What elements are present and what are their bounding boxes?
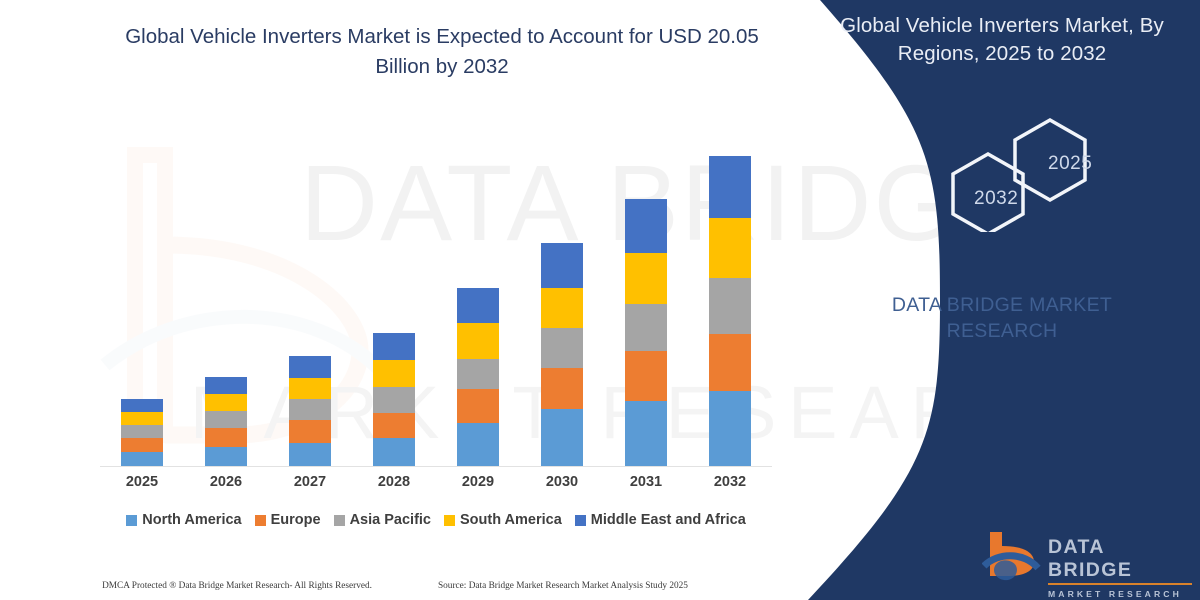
x-axis-labels: 20252026202720282029203020312032 [100, 474, 772, 490]
bar-segment [121, 438, 163, 452]
dbmr-logo-sub: MARKET RESEARCH [1048, 589, 1192, 599]
legend-swatch-icon [575, 515, 586, 526]
bar-column [604, 140, 688, 466]
dbmr-logo-main: DATA BRIDGE [1048, 536, 1192, 585]
x-axis-label: 2026 [184, 474, 268, 490]
hexagon-group: 2025 2032 [940, 112, 1120, 232]
bar-segment [541, 243, 583, 288]
bar-segment [373, 438, 415, 466]
legend-item[interactable]: North America [126, 512, 241, 528]
bar-segment [709, 278, 751, 334]
x-axis-label: 2032 [688, 474, 772, 490]
panel-brand-line-1: DATA BRIDGE MARKET [826, 292, 1178, 318]
hexagon-label-2025: 2025 [1048, 153, 1092, 175]
stacked-bar [541, 243, 583, 466]
stacked-bar [121, 399, 163, 466]
x-axis-label: 2030 [520, 474, 604, 490]
x-axis-label: 2027 [268, 474, 352, 490]
legend-label: Middle East and Africa [591, 512, 746, 528]
bar-segment [457, 423, 499, 466]
stacked-bar [457, 288, 499, 466]
bar-segment [457, 389, 499, 423]
dbmr-logo-text: DATA BRIDGE MARKET RESEARCH [1048, 536, 1192, 599]
bar-segment [205, 428, 247, 447]
stacked-bar [709, 156, 751, 466]
panel-brand-text: DATA BRIDGE MARKET RESEARCH [826, 292, 1178, 345]
bar-segment [289, 443, 331, 466]
footer: DMCA Protected ® Data Bridge Market Rese… [0, 581, 790, 591]
bar-segment [289, 420, 331, 443]
bar-segment [709, 334, 751, 391]
bar-segment [373, 333, 415, 360]
x-axis-line [100, 466, 772, 467]
legend-label: South America [460, 512, 562, 528]
footer-source: Source: Data Bridge Market Research Mark… [438, 581, 688, 591]
legend-item[interactable]: South America [444, 512, 562, 528]
footer-copyright: DMCA Protected ® Data Bridge Market Rese… [102, 581, 372, 591]
bar-segment [709, 218, 751, 278]
bar-segment [541, 409, 583, 466]
chart-legend: North AmericaEuropeAsia PacificSouth Ame… [100, 512, 772, 528]
bar-segment [457, 359, 499, 389]
bar-column [100, 140, 184, 466]
legend-swatch-icon [255, 515, 266, 526]
bar-segment [709, 156, 751, 218]
legend-label: Europe [271, 512, 321, 528]
bar-segment [373, 387, 415, 413]
bar-segment [541, 328, 583, 368]
bar-segment [541, 368, 583, 409]
bar-segment [205, 377, 247, 394]
panel-brand-line-2: RESEARCH [826, 318, 1178, 344]
hexagon-shapes-icon [940, 112, 1120, 232]
dbmr-mark-icon [982, 526, 1042, 584]
legend-swatch-icon [126, 515, 137, 526]
bar-segment [121, 399, 163, 412]
bar-segment [625, 199, 667, 253]
x-axis-label: 2028 [352, 474, 436, 490]
x-axis-label: 2029 [436, 474, 520, 490]
stacked-bar [625, 199, 667, 466]
bar-segment [289, 356, 331, 378]
x-axis-label: 2031 [604, 474, 688, 490]
bar-segment [625, 401, 667, 466]
legend-label: Asia Pacific [350, 512, 431, 528]
bar-segment [121, 412, 163, 425]
bar-column [436, 140, 520, 466]
bar-segment [289, 399, 331, 420]
x-axis-label: 2025 [100, 474, 184, 490]
bar-segment [205, 447, 247, 466]
bar-chart-plot [100, 140, 772, 466]
bar-segment [541, 288, 583, 328]
legend-item[interactable]: Asia Pacific [334, 512, 431, 528]
bar-segment [625, 253, 667, 304]
legend-item[interactable]: Europe [255, 512, 321, 528]
stacked-bar [373, 333, 415, 466]
bar-segment [457, 288, 499, 323]
stacked-bar [289, 356, 331, 466]
bar-column [520, 140, 604, 466]
bar-segment [121, 425, 163, 438]
legend-swatch-icon [444, 515, 455, 526]
bar-segment [121, 452, 163, 466]
bar-column [352, 140, 436, 466]
legend-label: North America [142, 512, 241, 528]
bar-column [688, 140, 772, 466]
page-title: Global Vehicle Inverters Market is Expec… [112, 22, 772, 81]
bar-segment [625, 304, 667, 351]
legend-item[interactable]: Middle East and Africa [575, 512, 746, 528]
bar-segment [457, 323, 499, 359]
infographic-canvas: DATA BRIDGE MARKET RESEARCH Global Vehic… [0, 0, 1200, 600]
legend-swatch-icon [334, 515, 345, 526]
bar-segment [709, 391, 751, 466]
dbmr-logo: DATA BRIDGE MARKET RESEARCH [982, 526, 1192, 588]
panel-title: Global Vehicle Inverters Market, By Regi… [826, 12, 1178, 67]
hexagon-label-2032: 2032 [974, 188, 1018, 210]
bar-segment [373, 413, 415, 438]
bar-column [184, 140, 268, 466]
stacked-bar [205, 377, 247, 466]
bar-segment [373, 360, 415, 387]
bar-segment [205, 411, 247, 428]
bar-segment [289, 378, 331, 399]
bar-segment [205, 394, 247, 411]
bar-segment [625, 351, 667, 401]
bar-column [268, 140, 352, 466]
